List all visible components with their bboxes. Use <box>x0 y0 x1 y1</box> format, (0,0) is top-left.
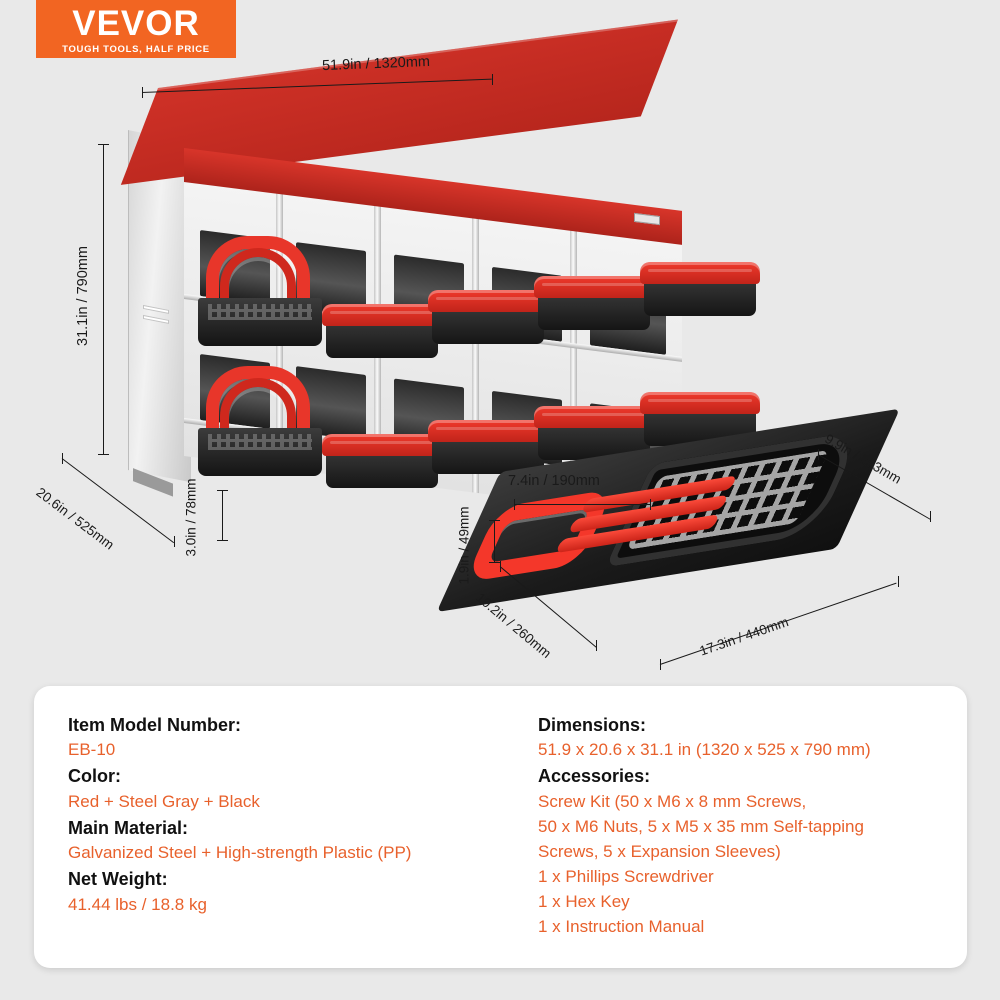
dimension-label-cabinet-depth: 20.6in / 525mm <box>33 485 116 553</box>
dimension-tick <box>98 454 109 455</box>
spec-value-accessories-line: Screws, 5 x Expansion Sleeves) <box>538 840 958 865</box>
bin-lip <box>534 276 654 298</box>
storage-bin <box>538 274 650 330</box>
bin-lip <box>640 262 760 284</box>
bin-tub <box>198 298 322 346</box>
dimension-tick <box>660 659 661 670</box>
side-vent-slot <box>143 305 169 314</box>
spec-column-right: Dimensions: 51.9 x 20.6 x 31.1 in (1320 … <box>538 712 958 968</box>
brand-tagline: TOUGH TOOLS, HALF PRICE <box>62 45 210 55</box>
spec-value-accessories-line: 1 x Instruction Manual <box>538 915 958 940</box>
spec-term-accessories: Accessories: <box>538 763 958 789</box>
specification-card: Item Model Number: EB-10 Color: Red + St… <box>34 686 967 968</box>
bin-drain-perforation <box>208 434 312 450</box>
spec-term-model-number: Item Model Number: <box>68 712 538 738</box>
spec-column-left: Item Model Number: EB-10 Color: Red + St… <box>68 712 538 968</box>
product-illustration: 51.9in / 1320mm 31.1in / 790mm 20.6in / … <box>0 58 1000 678</box>
spec-value-main-material: Galvanized Steel + High-strength Plastic… <box>68 841 538 866</box>
bin-lip <box>322 304 442 326</box>
handle-bin <box>198 236 322 346</box>
detached-tray-assembly <box>500 448 920 658</box>
cabinet-foot <box>133 468 173 497</box>
dimension-tick <box>217 540 228 541</box>
spec-value-dimensions: 51.9 x 20.6 x 31.1 in (1320 x 525 x 790 … <box>538 738 958 763</box>
bin-drain-perforation <box>208 304 312 320</box>
brand-name: VEVOR <box>72 6 200 41</box>
vevor-brand-badge: VEVOR TOUGH TOOLS, HALF PRICE <box>36 0 236 58</box>
storage-bin <box>326 432 438 488</box>
bin-tub <box>198 428 322 476</box>
bin-lip <box>534 406 654 428</box>
storage-bin <box>432 288 544 344</box>
spec-value-net-weight: 41.44 lbs / 18.8 kg <box>68 893 538 918</box>
spec-value-accessories-line: Screw Kit (50 x M6 x 8 mm Screws, <box>538 790 958 815</box>
dimension-tick <box>62 453 63 464</box>
side-vent-slot <box>143 315 169 324</box>
spec-term-color: Color: <box>68 763 538 789</box>
bin-lip <box>640 392 760 414</box>
spec-term-main-material: Main Material: <box>68 815 538 841</box>
spec-value-accessories-line: 1 x Hex Key <box>538 890 958 915</box>
spec-value-accessories-line: 50 x M6 Nuts, 5 x M5 x 35 mm Self-tappin… <box>538 815 958 840</box>
spec-value-model-number: EB-10 <box>68 738 538 763</box>
bin-row-upper <box>188 260 708 332</box>
dimension-tick <box>174 536 175 547</box>
spec-term-net-weight: Net Weight: <box>68 866 538 892</box>
cabinet-side-panel <box>128 130 191 482</box>
spec-value-accessories-line: 1 x Phillips Screwdriver <box>538 865 958 890</box>
storage-bin <box>326 302 438 358</box>
spec-term-dimensions: Dimensions: <box>538 712 958 738</box>
dimension-label-cabinet-height: 31.1in / 790mm <box>75 246 91 346</box>
spec-value-color: Red + Steel Gray + Black <box>68 790 538 815</box>
vevor-nameplate-icon <box>634 213 660 225</box>
bin-lip <box>428 420 548 442</box>
dimension-tick <box>98 144 109 145</box>
dimension-line <box>103 144 104 454</box>
storage-bin <box>644 260 756 316</box>
dimension-tick <box>930 511 931 522</box>
bin-lip <box>428 290 548 312</box>
bin-lip <box>322 434 442 456</box>
handle-bin <box>198 366 322 476</box>
